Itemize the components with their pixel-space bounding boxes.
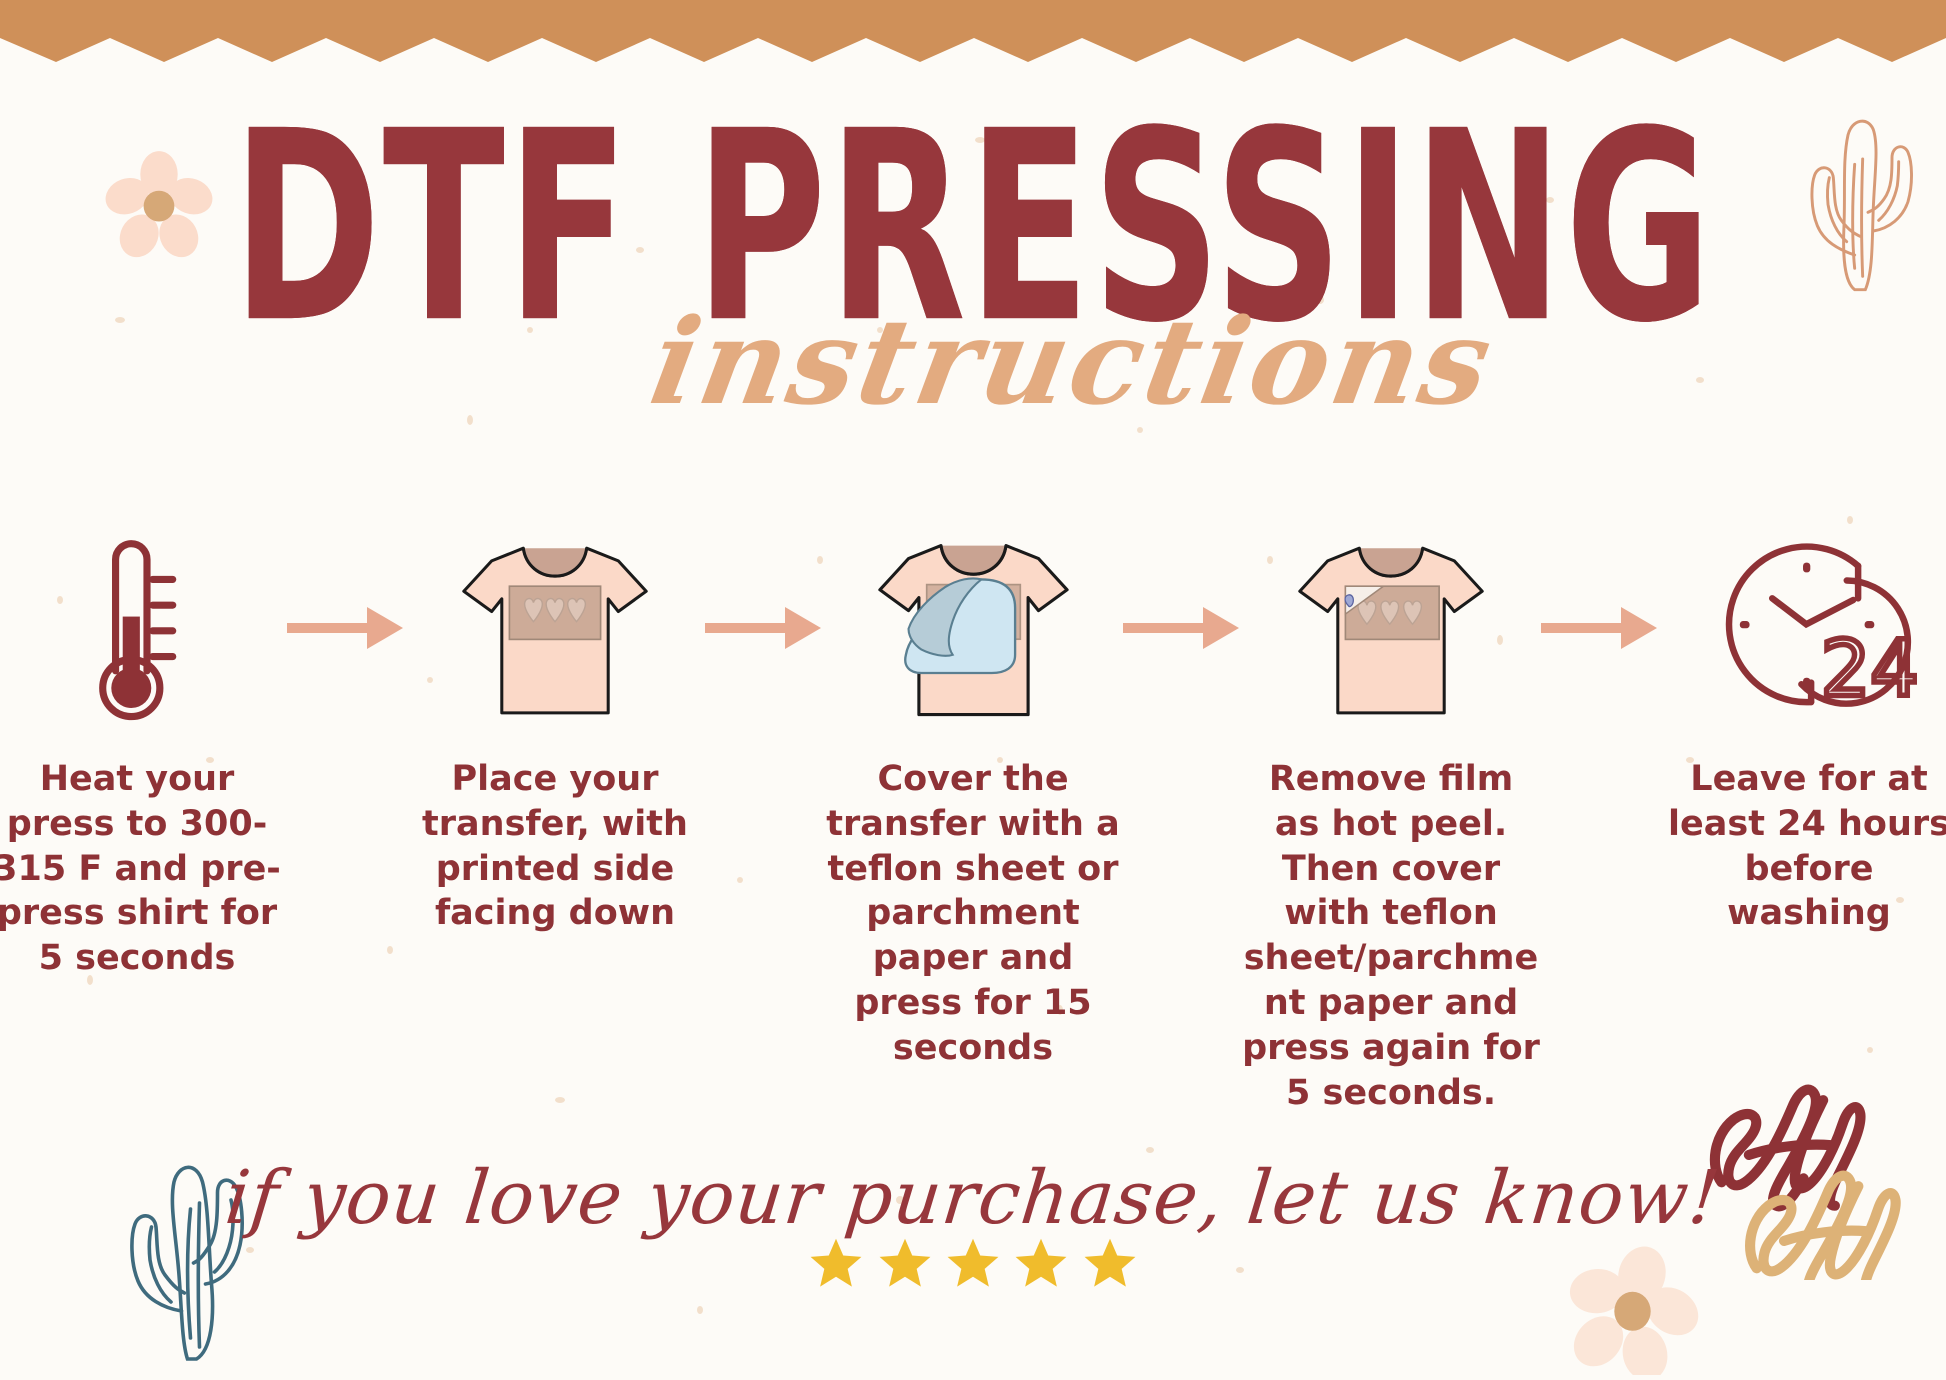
step-2-icon-box [450,520,660,735]
arrow-box-1 [287,520,405,735]
clock-24-hours-icon: 24 [1702,540,1917,715]
thermometer-icon [72,528,202,728]
step-5: 24 Leave for at least 24 hours before wa… [1659,520,1946,936]
call-to-action-text: if you love your purchase, let us know! [222,1155,1725,1241]
steps-row: Heat your press to 300-315 F and pre-pre… [0,520,1946,1080]
page-subtitle: instructions [642,292,1504,431]
step-1-text: Heat your press to 300-315 F and pre-pre… [0,757,287,981]
step-3-text: Cover the transfer with a teflon sheet o… [823,757,1123,1071]
tshirt-with-teflon-sheet-icon [866,530,1081,725]
step-3: Cover the transfer with a teflon sheet o… [823,520,1123,1071]
footer: if you love your purchase, let us know! [0,1155,1946,1295]
tshirt-peeling-film-icon [1286,533,1496,723]
star-icon [1081,1235,1139,1291]
step-4-text: Remove film as hot peel. Then cover with… [1241,757,1541,1115]
step-4: Remove film as hot peel. Then cover with… [1241,520,1541,1115]
subtitle-wrap: instructions [0,292,1946,431]
step-5-text: Leave for at least 24 hours before washi… [1659,757,1946,936]
arrow-right-icon [705,603,823,653]
arrow-right-icon [1541,603,1659,653]
star-icon [1012,1235,1070,1291]
step-5-icon-box: 24 [1702,520,1917,735]
arrow-box-4 [1541,520,1659,735]
step-3-icon-box [866,520,1081,735]
star-icon [807,1235,865,1291]
step-2: Place your transfer, with printed side f… [405,520,705,936]
step-4-icon-box [1286,520,1496,735]
star-rating [0,1235,1946,1295]
step-2-text: Place your transfer, with printed side f… [405,757,705,936]
star-icon [876,1235,934,1291]
arrow-right-icon [1123,603,1241,653]
step-1: Heat your press to 300-315 F and pre-pre… [0,520,287,981]
step-1-icon-box [72,520,202,735]
tshirt-with-transfer-icon [450,533,660,723]
arrow-box-2 [705,520,823,735]
clock-24-label: 24 [1820,625,1916,715]
star-icon [944,1235,1002,1291]
arrow-box-3 [1123,520,1241,735]
arrow-right-icon [287,603,405,653]
zigzag-top-border [0,0,1946,62]
